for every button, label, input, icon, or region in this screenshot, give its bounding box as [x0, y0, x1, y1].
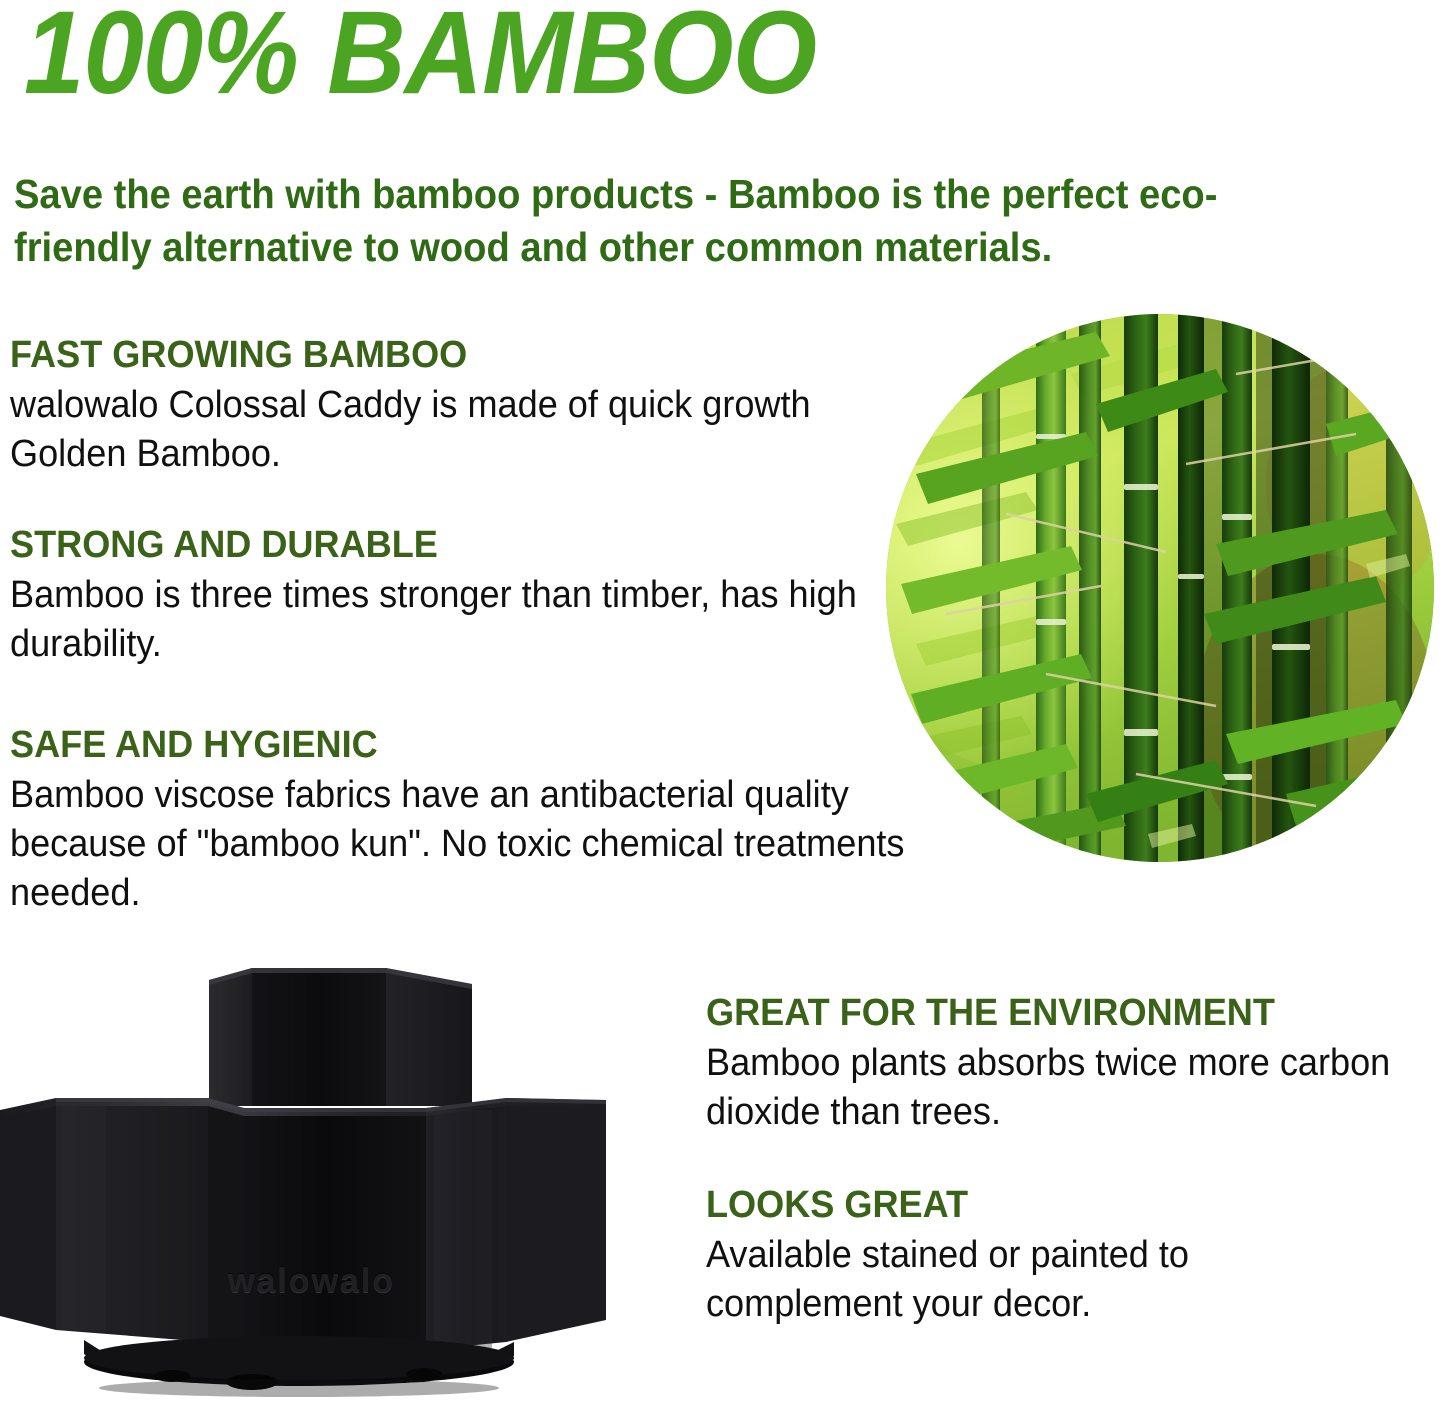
- feature-strong-and-durable: STRONG AND DURABLE Bamboo is three times…: [10, 524, 940, 669]
- feature-heading: SAFE AND HYGIENIC: [10, 724, 913, 767]
- feature-great-for-the-environment: GREAT FOR THE ENVIRONMENT Bamboo plants …: [706, 992, 1445, 1137]
- feature-body: Available stained or painted to compleme…: [706, 1231, 1371, 1330]
- infographic-page: 100% BAMBOO Save the earth with bamboo p…: [0, 0, 1445, 1406]
- feature-looks-great: LOOKS GREAT Available stained or painted…: [706, 1184, 1406, 1329]
- product-image: [0, 958, 619, 1406]
- bamboo-illustration: [886, 314, 1434, 862]
- feature-heading: LOOKS GREAT: [706, 1184, 1371, 1227]
- feature-heading: GREAT FOR THE ENVIRONMENT: [706, 992, 1409, 1035]
- feature-body: Bamboo viscose fabrics have an antibacte…: [10, 771, 913, 919]
- feature-fast-growing-bamboo: FAST GROWING BAMBOO walowalo Colossal Ca…: [10, 334, 910, 479]
- feature-body: Bamboo plants absorbs twice more carbon …: [706, 1039, 1409, 1138]
- black-caddy-illustration: [0, 958, 619, 1406]
- bamboo-grove-image: [886, 314, 1434, 862]
- feature-body: walowalo Colossal Caddy is made of quick…: [10, 381, 865, 480]
- feature-heading: FAST GROWING BAMBOO: [10, 334, 865, 377]
- feature-body: Bamboo is three times stronger than timb…: [10, 571, 894, 670]
- feature-heading: STRONG AND DURABLE: [10, 524, 894, 567]
- page-subtitle: Save the earth with bamboo products - Ba…: [14, 168, 1335, 275]
- page-title: 100% BAMBOO: [24, 0, 816, 112]
- feature-safe-and-hygienic: SAFE AND HYGIENIC Bamboo viscose fabrics…: [10, 724, 960, 919]
